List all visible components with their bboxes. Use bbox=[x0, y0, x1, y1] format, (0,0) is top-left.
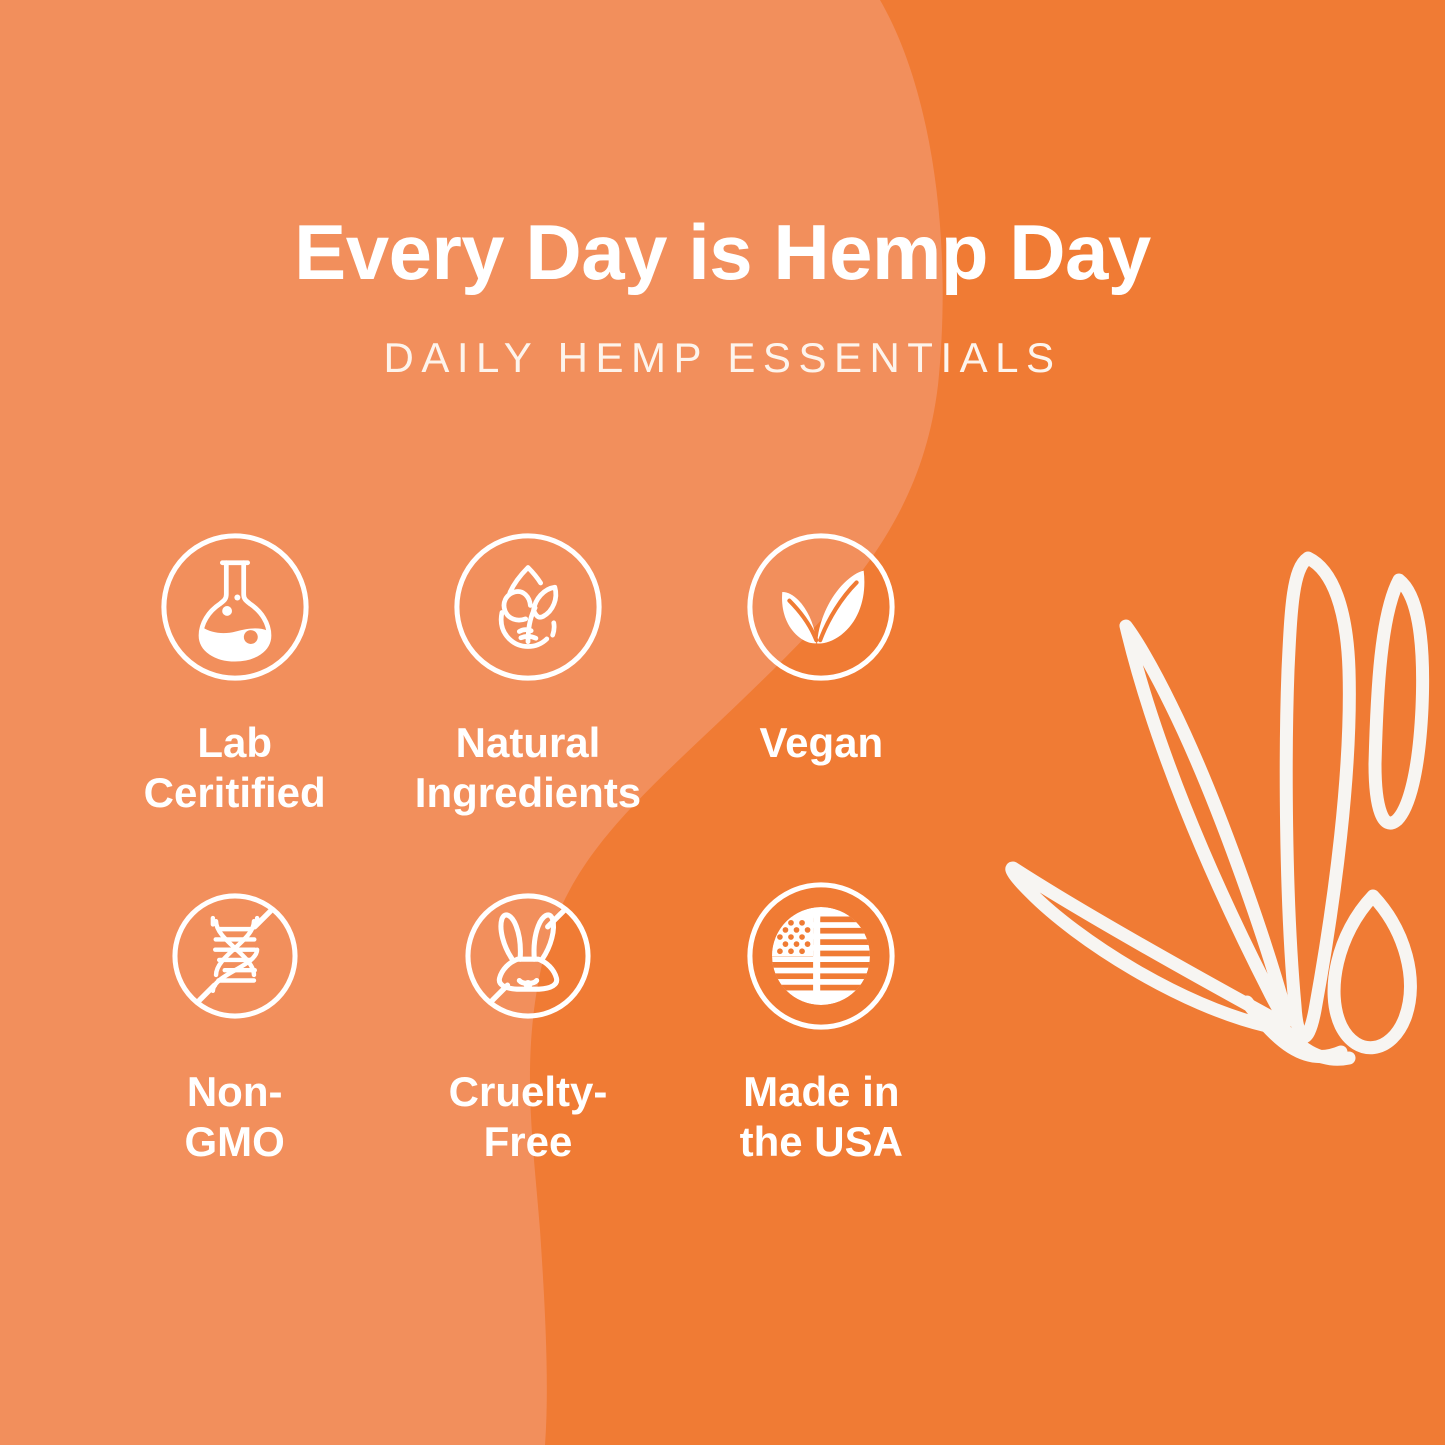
leaves-icon bbox=[742, 528, 900, 686]
no-rabbit-icon bbox=[449, 877, 607, 1035]
badge-vegan: Vegan bbox=[675, 528, 968, 817]
badge-natural-ingredients: Natural Ingredients bbox=[381, 528, 674, 817]
promo-poster: Every Day is Hemp Day DAILY HEMP ESSENTI… bbox=[0, 0, 1445, 1445]
badge-non-gmo: Non- GMO bbox=[88, 877, 381, 1166]
badge-lab-certified: Lab Ceritified bbox=[88, 528, 381, 817]
badge-label: Made in the USA bbox=[740, 1067, 903, 1166]
badge-grid: Lab Ceritified bbox=[88, 528, 968, 1166]
sprout-droplet-icon bbox=[449, 528, 607, 686]
badge-label: Natural Ingredients bbox=[415, 718, 641, 817]
page-subtitle: DAILY HEMP ESSENTIALS bbox=[0, 337, 1445, 379]
badge-label: Lab Ceritified bbox=[144, 718, 326, 817]
badge-label: Non- GMO bbox=[185, 1067, 285, 1166]
poster-content: Every Day is Hemp Day DAILY HEMP ESSENTI… bbox=[0, 0, 1445, 1445]
badge-made-in-usa: Made in the USA bbox=[675, 877, 968, 1166]
usa-flag-icon bbox=[742, 877, 900, 1035]
lab-flask-icon bbox=[156, 528, 314, 686]
badge-label: Vegan bbox=[759, 718, 883, 768]
page-title: Every Day is Hemp Day bbox=[0, 212, 1445, 293]
poster-header: Every Day is Hemp Day DAILY HEMP ESSENTI… bbox=[0, 212, 1445, 379]
no-dna-icon bbox=[156, 877, 314, 1035]
badge-cruelty-free: Cruelty- Free bbox=[381, 877, 674, 1166]
badge-label: Cruelty- Free bbox=[449, 1067, 608, 1166]
